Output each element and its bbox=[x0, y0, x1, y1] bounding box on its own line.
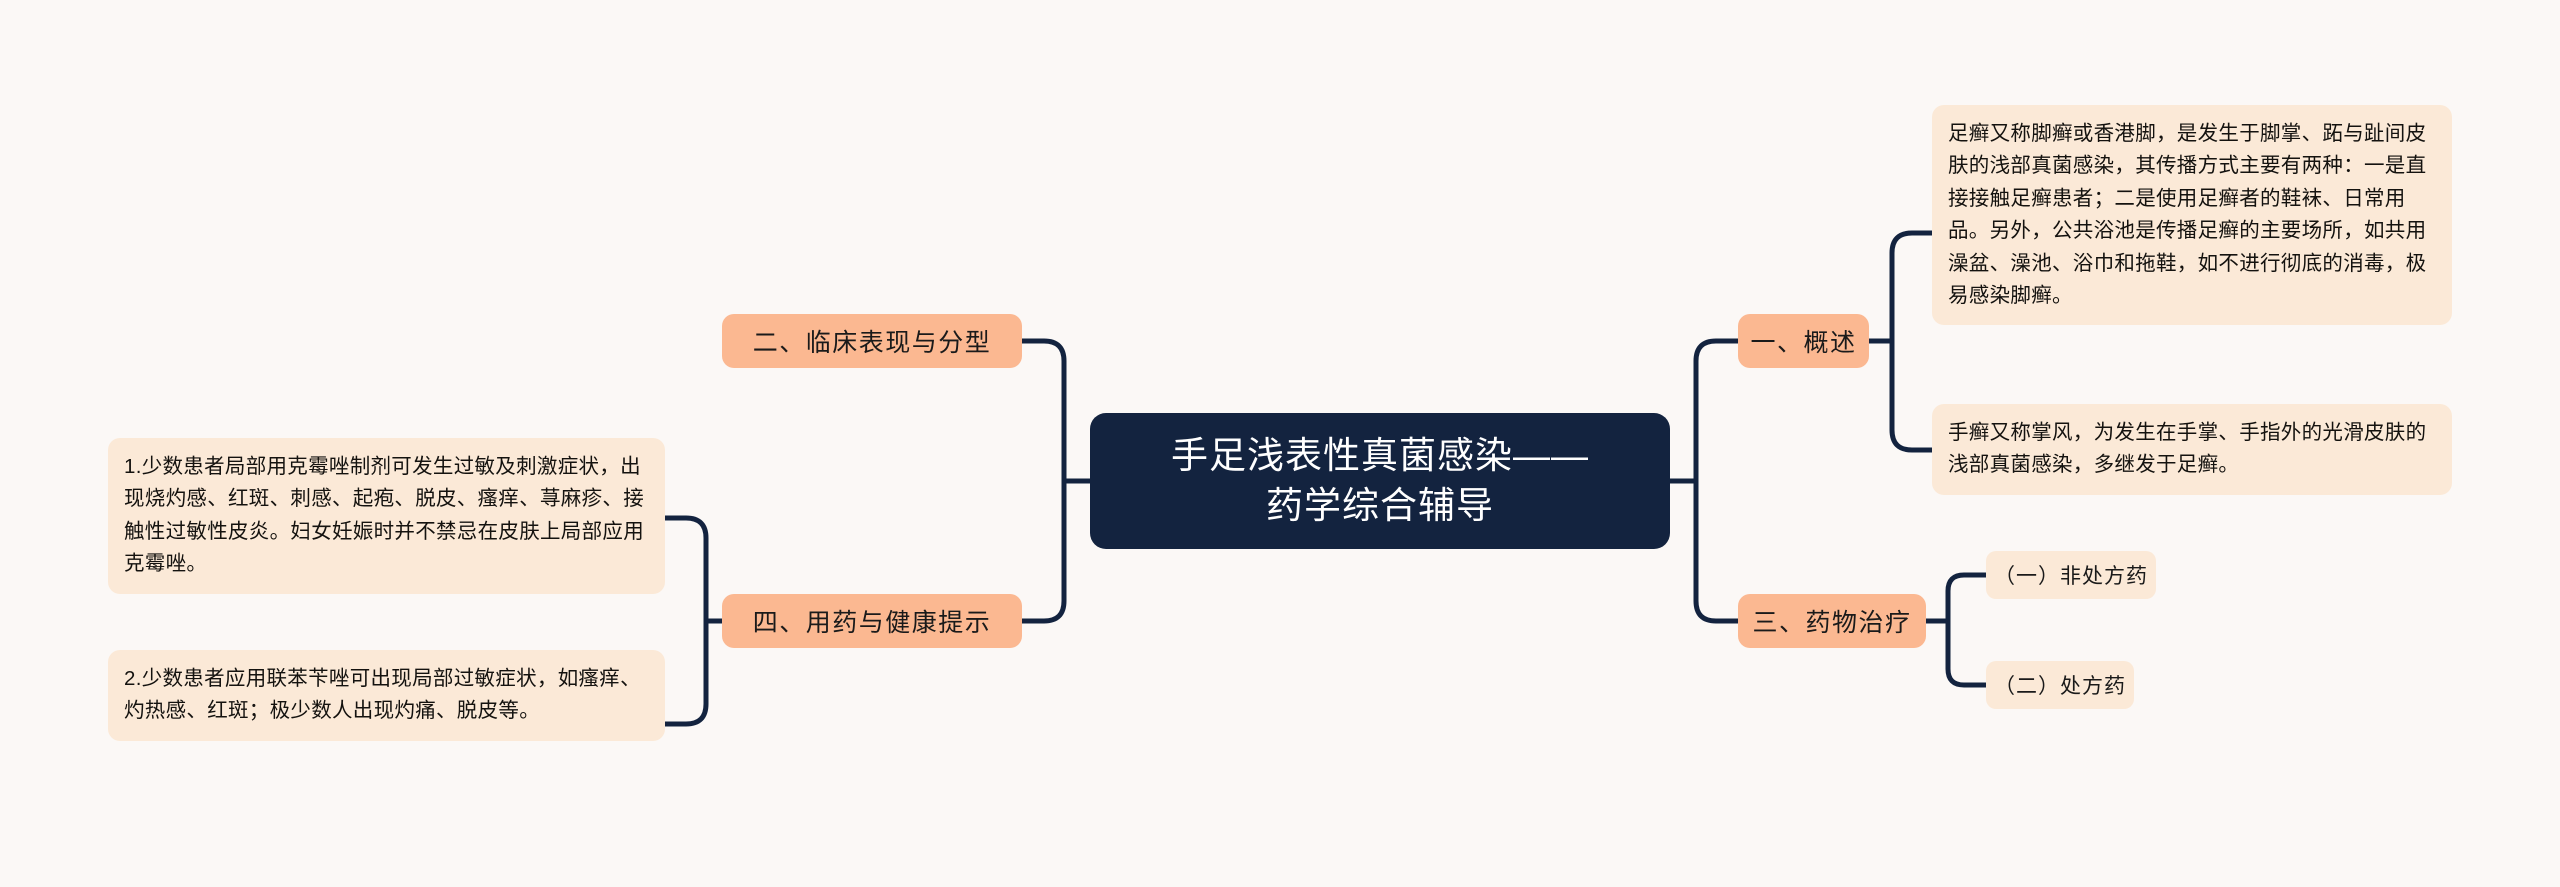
branch-label-clinical: 二、临床表现与分型 bbox=[753, 323, 992, 359]
detail-box-medication-tips-2[interactable]: 2.少数患者应用联苯苄唑可出现局部过敏症状，如瘙痒、灼热感、红斑；极少数人出现灼… bbox=[108, 650, 665, 741]
detail-text-medication-tips-2: 2.少数患者应用联苯苄唑可出现局部过敏症状，如瘙痒、灼热感、红斑；极少数人出现灼… bbox=[124, 667, 641, 722]
branch-node-drug-therapy[interactable]: 三、药物治疗 bbox=[1738, 594, 1926, 648]
root-title: 手足浅表性真菌感染—— 药学综合辅导 bbox=[1171, 431, 1589, 530]
connector-root-to-overview bbox=[1696, 341, 1738, 481]
branch-node-medication-tips[interactable]: 四、用药与健康提示 bbox=[722, 594, 1022, 648]
detail-box-overview-1[interactable]: 足癣又称脚癣或香港脚，是发生于脚掌、跖与趾间皮肤的浅部真菌感染，其传播方式主要有… bbox=[1932, 105, 2452, 325]
sub-label-otc: （一）非处方药 bbox=[1994, 560, 2148, 590]
detail-text-overview-1: 足癣又称脚癣或香港脚，是发生于脚掌、跖与趾间皮肤的浅部真菌感染，其传播方式主要有… bbox=[1948, 122, 2426, 307]
connector-overview-to-detail-1 bbox=[1892, 233, 1932, 341]
branch-node-clinical[interactable]: 二、临床表现与分型 bbox=[722, 314, 1022, 368]
connector-drug-to-otc bbox=[1948, 575, 1986, 621]
branch-node-overview[interactable]: 一、概述 bbox=[1738, 314, 1869, 368]
detail-text-medication-tips-1: 1.少数患者局部用克霉唑制剂可发生过敏及刺激症状，出现烧灼感、红斑、刺感、起疱、… bbox=[124, 455, 644, 575]
sub-label-rx: （二）处方药 bbox=[1994, 670, 2126, 700]
sub-node-otc[interactable]: （一）非处方药 bbox=[1986, 551, 2156, 599]
connector-root-to-drug-therapy bbox=[1696, 481, 1738, 621]
branch-label-drug-therapy: 三、药物治疗 bbox=[1753, 603, 1912, 639]
sub-node-rx[interactable]: （二）处方药 bbox=[1986, 661, 2134, 709]
branch-label-medication-tips: 四、用药与健康提示 bbox=[753, 603, 992, 639]
detail-text-overview-2: 手癣又称掌风，为发生在手掌、手指外的光滑皮肤的浅部真菌感染，多继发于足癣。 bbox=[1948, 421, 2426, 476]
root-node[interactable]: 手足浅表性真菌感染—— 药学综合辅导 bbox=[1090, 413, 1670, 549]
connector-tips-to-detail-1 bbox=[665, 518, 706, 621]
branch-label-overview: 一、概述 bbox=[1751, 323, 1857, 359]
connector-drug-to-rx bbox=[1948, 621, 1986, 685]
connector-root-to-clinical bbox=[1022, 341, 1064, 481]
detail-box-medication-tips-1[interactable]: 1.少数患者局部用克霉唑制剂可发生过敏及刺激症状，出现烧灼感、红斑、刺感、起疱、… bbox=[108, 438, 665, 594]
connector-overview-to-detail-2 bbox=[1892, 341, 1932, 450]
detail-box-overview-2[interactable]: 手癣又称掌风，为发生在手掌、手指外的光滑皮肤的浅部真菌感染，多继发于足癣。 bbox=[1932, 404, 2452, 495]
connector-root-to-tips bbox=[1022, 481, 1064, 621]
mindmap-canvas: 手足浅表性真菌感染—— 药学综合辅导 二、临床表现与分型 四、用药与健康提示 1… bbox=[0, 0, 2560, 887]
connector-tips-to-detail-2 bbox=[665, 621, 706, 724]
